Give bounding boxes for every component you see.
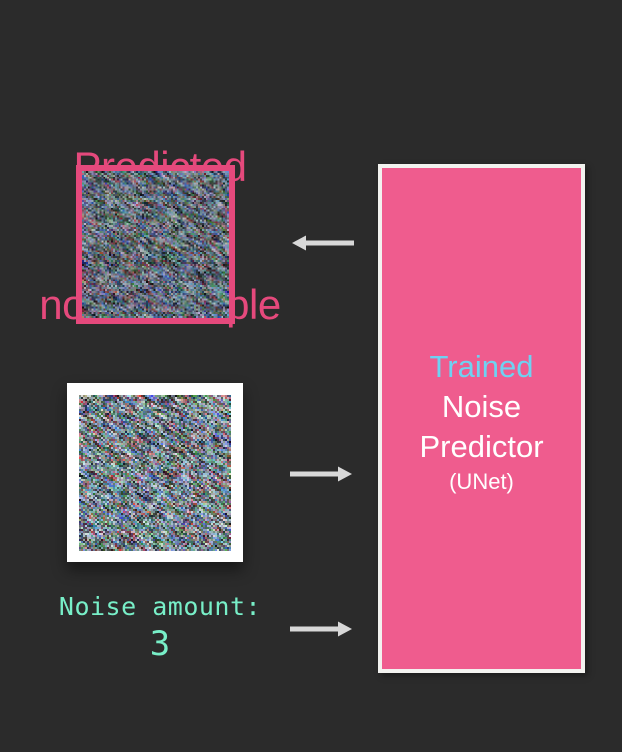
trained-noise-predictor-box: Trained Noise Predictor (UNet) [378,164,585,673]
unet-noise-label: Noise [382,387,581,427]
unet-trained-label: Trained [382,347,581,387]
noise-amount-caption: Noise amount: 3 [30,592,290,664]
noise-amount-label: Noise amount: [30,592,290,622]
unet-box-text: Trained Noise Predictor (UNet) [382,347,581,497]
diagram-canvas: Predicted noise sample Noise amount: 3 T… [0,0,622,752]
unet-architecture-label: (UNet) [382,467,581,497]
arrow-left-model-output [290,226,356,260]
arrow-right-image-input [288,457,354,491]
unet-predictor-label: Predictor [382,427,581,467]
noisy-input-canvas [79,395,231,551]
predicted-noise-canvas [82,171,229,318]
noisy-input-image [67,383,243,562]
predicted-noise-sample-image [76,165,235,324]
noise-amount-value: 3 [30,624,290,664]
noisy-input-image-inner [79,395,231,551]
arrow-right-amount-input [288,612,354,646]
